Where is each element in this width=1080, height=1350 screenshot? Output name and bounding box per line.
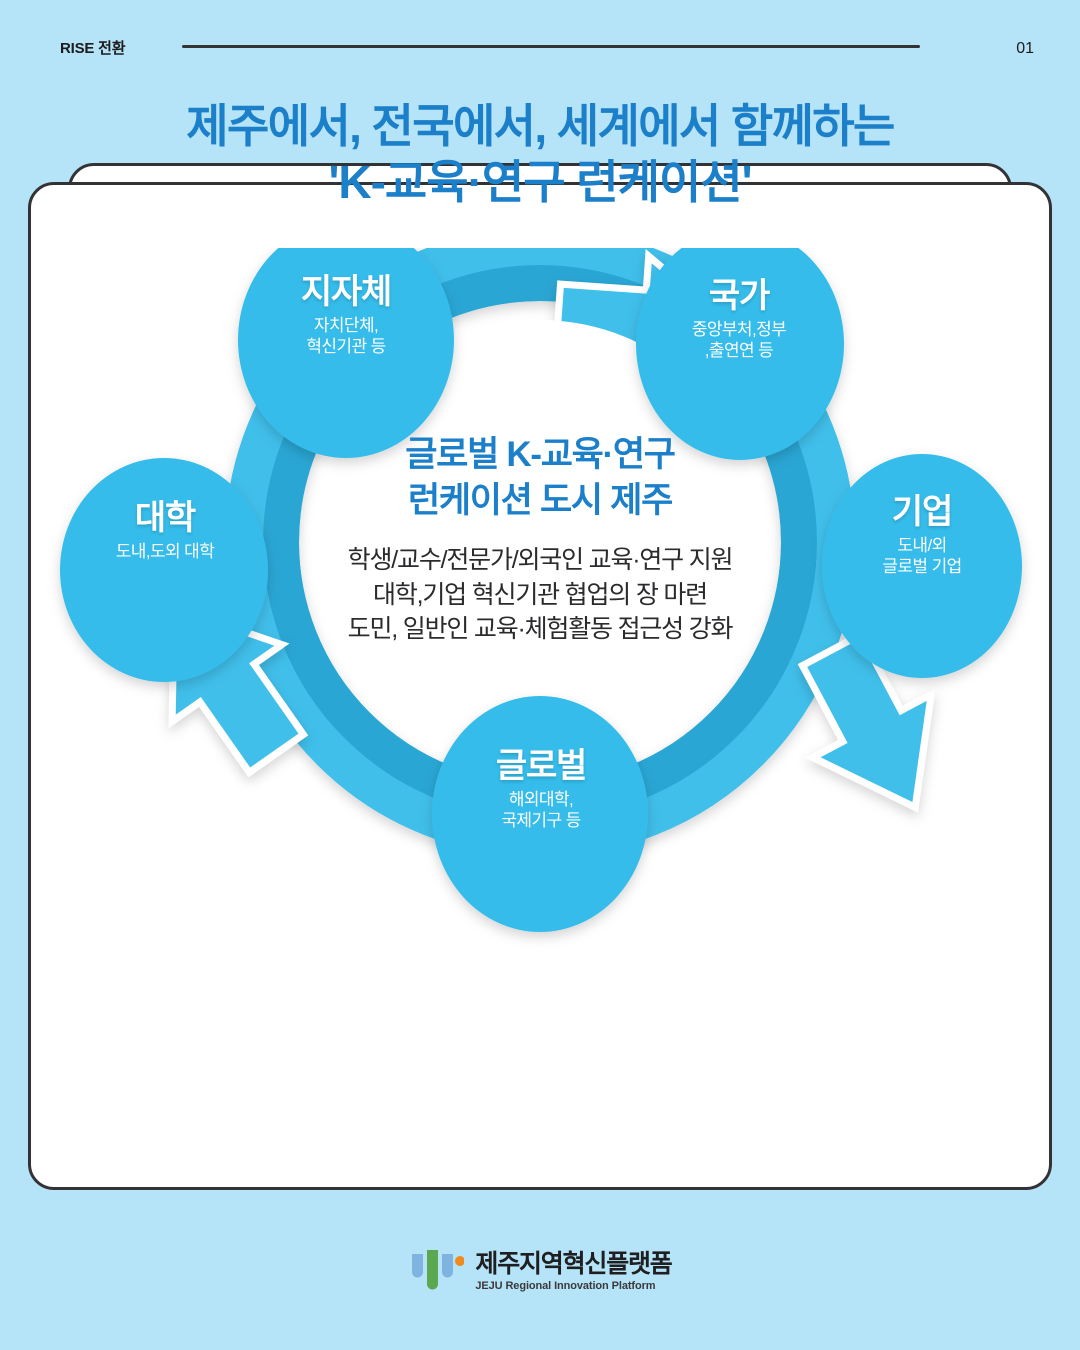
footer-logo: 제주지역혁신플랫폼 JEJU Regional Innovation Platf… xyxy=(0,1248,1080,1296)
header-divider xyxy=(182,45,920,48)
footer-logo-english: JEJU Regional Innovation Platform xyxy=(475,1281,671,1292)
center-body-line-2: 대학,기업 혁신기관 협업의 장 마련 xyxy=(260,578,820,613)
node-daehak-shape[interactable] xyxy=(60,458,268,682)
node-gieop-shape[interactable] xyxy=(822,454,1022,678)
title-line-2: 'K-교육·연구 런케이션' xyxy=(0,154,1080,210)
center-head-line-2: 런케이션 도시 제주 xyxy=(260,478,820,524)
cycle-center-text: 글로벌 K-교육·연구 런케이션 도시 제주 학생/교수/전문가/외국인 교육·… xyxy=(260,432,820,647)
cycle-diagram: 지자체 자치단체, 혁신기관 등 국가 중앙부처,정부 ,출연연 등 기업 도내… xyxy=(28,248,1052,1008)
slide-header: RISE 전환 01 xyxy=(60,36,1034,62)
node-global-shape[interactable] xyxy=(432,696,648,932)
center-body-line-3: 도민, 일반인 교육·체험활동 접근성 강화 xyxy=(260,612,820,647)
page-title: 제주에서, 전국에서, 세계에서 함께하는 'K-교육·연구 런케이션' xyxy=(0,98,1080,210)
footer-logo-text: 제주지역혁신플랫폼 JEJU Regional Innovation Platf… xyxy=(475,1252,671,1292)
page-number: 01 xyxy=(1016,36,1034,62)
header-label: RISE 전환 xyxy=(60,36,125,62)
center-head-line-1: 글로벌 K-교육·연구 xyxy=(260,432,820,478)
footer-logo-korean: 제주지역혁신플랫폼 xyxy=(475,1252,671,1277)
slide-root: RISE 전환 01 제주에서, 전국에서, 세계에서 함께하는 'K-교육·연… xyxy=(0,0,1080,1350)
jeju-platform-logo-icon xyxy=(408,1248,464,1296)
center-body-line-1: 학생/교수/전문가/외국인 교육·연구 지원 xyxy=(260,543,820,578)
title-line-1: 제주에서, 전국에서, 세계에서 함께하는 xyxy=(0,98,1080,154)
arrowhead-left xyxy=(254,718,328,754)
